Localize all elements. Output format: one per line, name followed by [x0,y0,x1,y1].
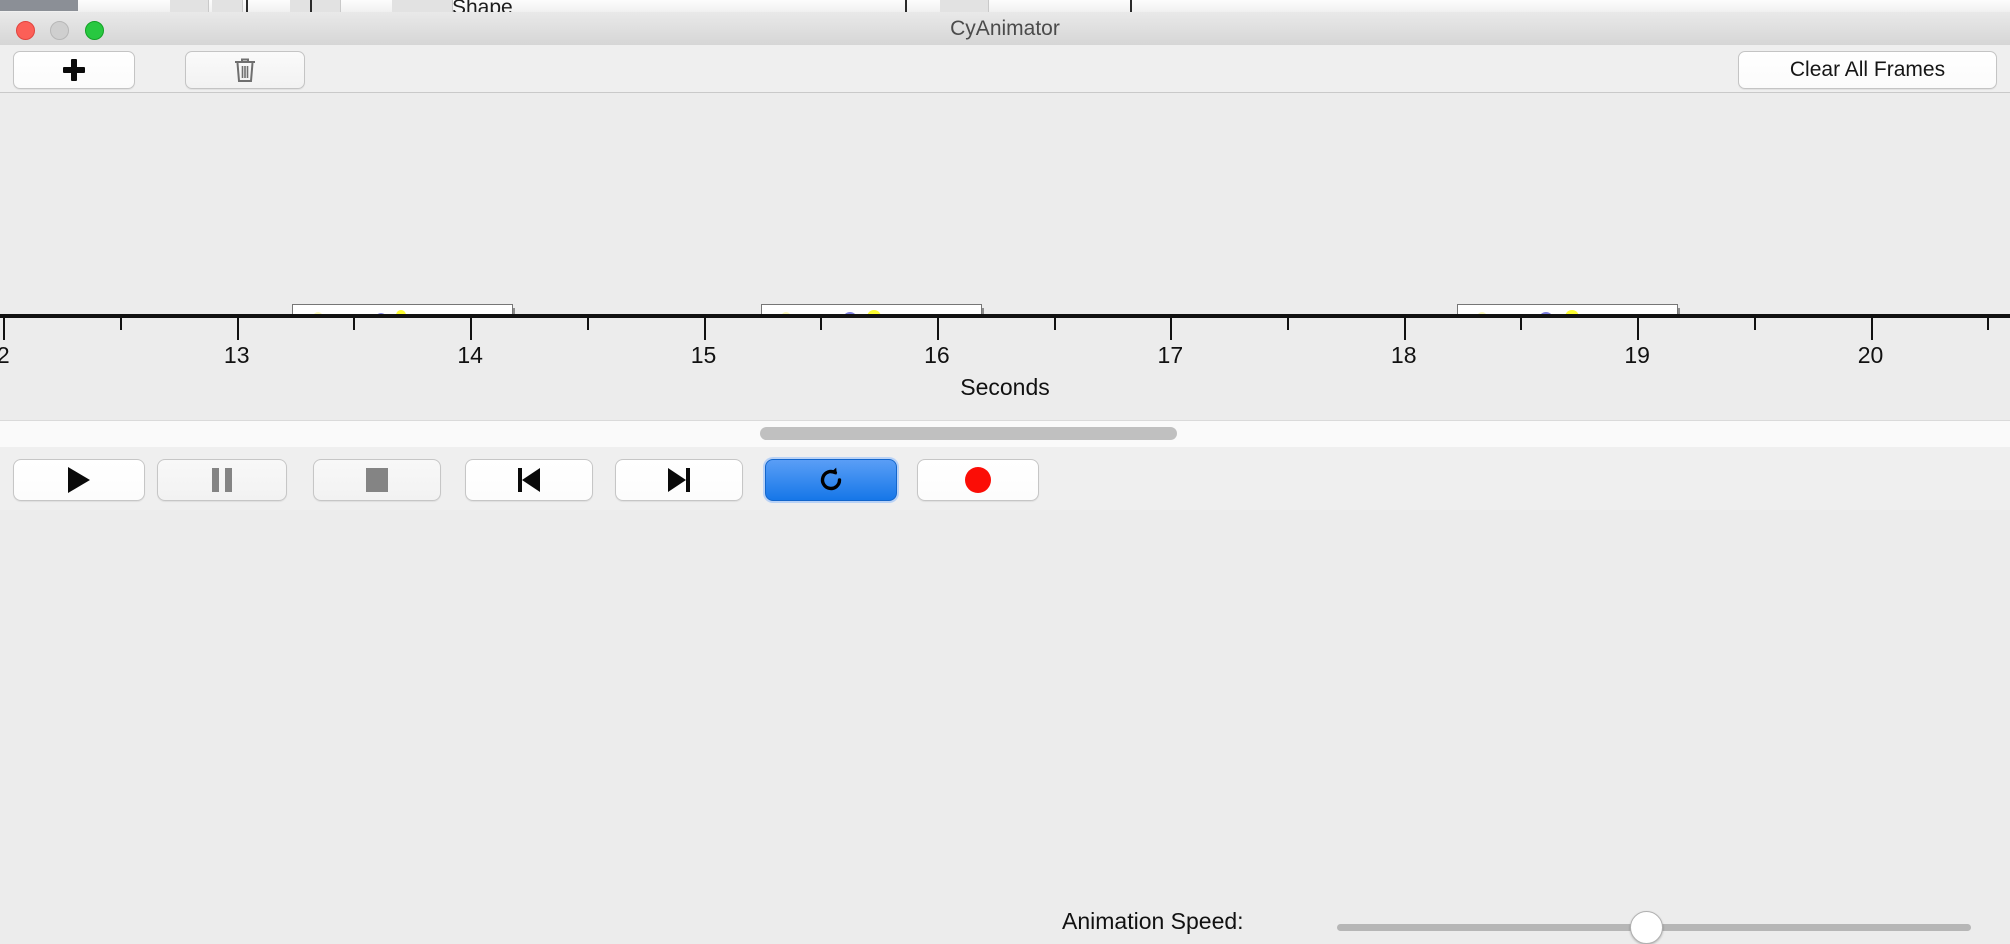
scrollbar-thumb[interactable] [760,427,1177,440]
axis-tick-minor [587,318,589,330]
axis-title: Seconds [0,374,2010,401]
timeline-panel[interactable]: MCM1 [0,93,2010,319]
axis-tick-minor [1520,318,1522,330]
axis-tick-minor [1287,318,1289,330]
axis-tick-label: 18 [1391,342,1417,369]
axis-tick-minor [1054,318,1056,330]
axis-tick-label: 16 [924,342,950,369]
background-window-sidebar [0,0,78,11]
axis-tick-major [1871,318,1873,340]
background-chip [170,0,209,12]
record-icon [965,467,991,493]
background-tick [905,0,907,12]
axis-line [0,314,2010,318]
loop-refresh-icon [816,465,846,495]
axis-tick-label: 13 [224,342,250,369]
axis-tick-major [1404,318,1406,340]
background-chip [940,0,989,12]
cyanimator-window: Shape CyAnimator Clear All Frames [0,0,2010,510]
trash-icon [233,56,257,84]
loop-button[interactable] [765,459,897,501]
background-chip [290,0,341,12]
add-frame-button[interactable] [13,51,135,89]
axis-tick-major [237,318,239,340]
axis-tick-label: 20 [1858,342,1884,369]
stop-button[interactable] [313,459,441,501]
background-chip [212,0,243,12]
play-button[interactable] [13,459,145,501]
background-tick [246,0,248,12]
background-tick [310,0,312,12]
delete-frame-button[interactable] [185,51,305,89]
toolbar: Clear All Frames [0,45,2010,93]
axis-tick-major [1637,318,1639,340]
axis-tick-minor [1754,318,1756,330]
axis-tick-minor [1987,318,1989,330]
axis-tick-label: 17 [1158,342,1184,369]
axis-tick-minor [820,318,822,330]
stop-icon [366,468,388,492]
animation-speed-knob[interactable] [1630,911,1663,944]
timeline-axis[interactable]: 21314151617181920 Seconds [0,314,2010,420]
pause-icon [212,468,232,492]
skip-next-icon [668,468,690,492]
axis-tick-major [1170,318,1172,340]
axis-tick-major [3,318,5,340]
skip-previous-button[interactable] [465,459,593,501]
timeline-scrollbar[interactable] [0,420,2010,449]
axis-tick-minor [353,318,355,330]
animation-speed-label: Animation Speed: [1062,908,1244,935]
clear-all-frames-label: Clear All Frames [1790,58,1945,82]
title-bar: CyAnimator [0,12,2010,46]
axis-tick-major [704,318,706,340]
record-button[interactable] [917,459,1039,501]
window-title: CyAnimator [0,12,2010,45]
plus-icon [63,59,85,81]
axis-tick-label: 2 [0,342,10,369]
pause-button[interactable] [157,459,287,501]
skip-next-button[interactable] [615,459,743,501]
background-tick [1130,0,1132,12]
axis-tick-minor [120,318,122,330]
background-chip [392,0,453,12]
playback-control-bar: Animation Speed: [0,447,2010,510]
axis-tick-label: 15 [691,342,717,369]
play-icon [68,467,90,493]
axis-tick-label: 19 [1624,342,1650,369]
axis-tick-major [937,318,939,340]
axis-tick-major [470,318,472,340]
clear-all-frames-button[interactable]: Clear All Frames [1738,51,1997,89]
axis-tick-label: 14 [457,342,483,369]
skip-previous-icon [518,468,540,492]
